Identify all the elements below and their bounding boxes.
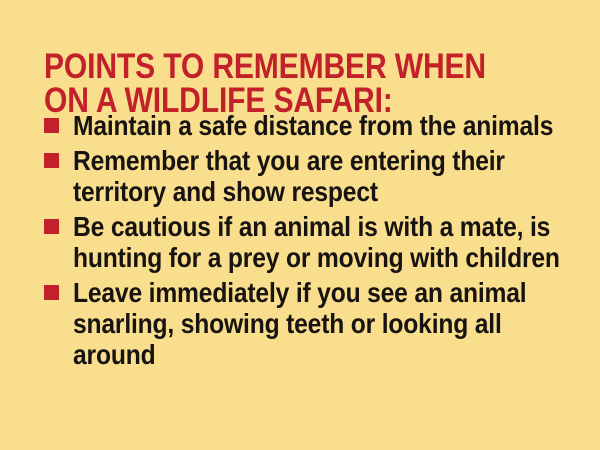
list-item-label: Leave immediately if you see an animal s… bbox=[73, 277, 589, 370]
red-square-bullet-icon bbox=[44, 118, 59, 133]
list-item: Remember that you are entering their ter… bbox=[44, 145, 589, 207]
list-item-label: Maintain a safe distance from the animal… bbox=[73, 110, 589, 141]
list-item: Be cautious if an animal is with a mate,… bbox=[44, 211, 589, 273]
list-item: Maintain a safe distance from the animal… bbox=[44, 110, 589, 141]
page-title: POINTS TO REMEMBER WHEN ON A WILDLIFE SA… bbox=[44, 50, 491, 118]
red-square-bullet-icon bbox=[44, 285, 59, 300]
red-square-bullet-icon bbox=[44, 153, 59, 168]
list-item-label: Remember that you are entering their ter… bbox=[73, 145, 589, 207]
red-square-bullet-icon bbox=[44, 219, 59, 234]
list-item: Leave immediately if you see an animal s… bbox=[44, 277, 589, 370]
list-item-label: Be cautious if an animal is with a mate,… bbox=[73, 211, 589, 273]
tips-list: Maintain a safe distance from the animal… bbox=[44, 110, 589, 374]
safari-tips-infographic: POINTS TO REMEMBER WHEN ON A WILDLIFE SA… bbox=[0, 0, 600, 450]
